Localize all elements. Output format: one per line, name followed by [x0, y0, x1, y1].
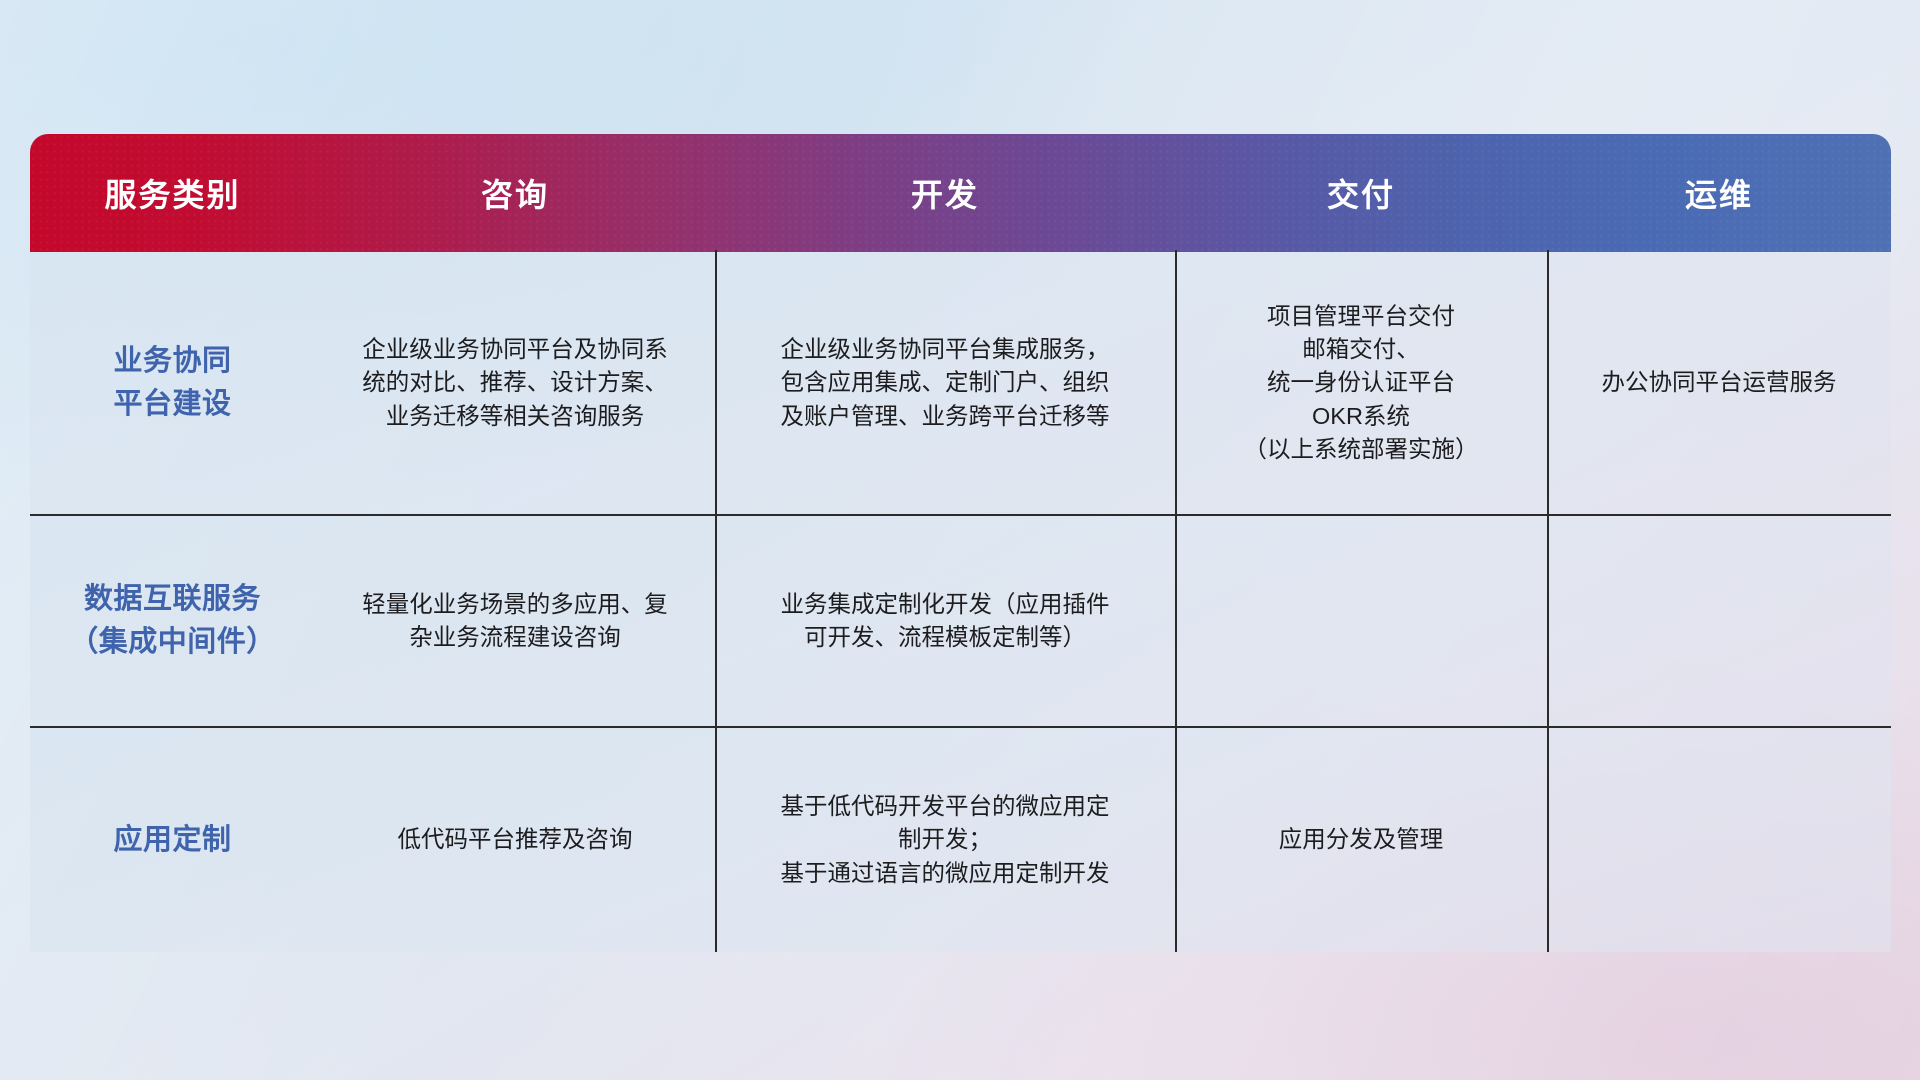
cell-text: 办公协同平台运营服务 — [1602, 366, 1837, 399]
table-row: 业务协同 平台建设 企业级业务协同平台及协同系 统的对比、推荐、设计方案、 业务… — [30, 252, 1891, 514]
row-label-text: 应用定制 — [113, 819, 231, 862]
cell-development: 企业级业务协同平台集成服务， 包含应用集成、定制门户、组织 及账户管理、业务跨平… — [715, 252, 1175, 514]
row-label-cell: 业务协同 平台建设 — [30, 252, 315, 514]
cell-development: 基于低代码开发平台的微应用定 制开发； 基于通过语言的微应用定制开发 — [715, 728, 1175, 952]
cell-development: 业务集成定制化开发（应用插件 可开发、流程模板定制等） — [715, 516, 1175, 726]
cell-operations — [1547, 728, 1891, 952]
column-header-delivery: 交付 — [1175, 170, 1547, 216]
cell-text: 基于低代码开发平台的微应用定 制开发； 基于通过语言的微应用定制开发 — [781, 790, 1110, 890]
cell-delivery — [1175, 516, 1547, 726]
cell-text: 企业级业务协同平台集成服务， 包含应用集成、定制门户、组织 及账户管理、业务跨平… — [781, 333, 1110, 433]
cell-text: 低代码平台推荐及咨询 — [398, 823, 633, 856]
table-body: 业务协同 平台建设 企业级业务协同平台及协同系 统的对比、推荐、设计方案、 业务… — [30, 252, 1891, 952]
table-row: 应用定制 低代码平台推荐及咨询 基于低代码开发平台的微应用定 制开发； 基于通过… — [30, 726, 1891, 952]
cell-text: 业务集成定制化开发（应用插件 可开发、流程模板定制等） — [781, 588, 1110, 655]
row-label-text: 数据互联服务 （集成中间件） — [69, 578, 276, 664]
row-label-cell: 数据互联服务 （集成中间件） — [30, 516, 315, 726]
cell-text: 轻量化业务场景的多应用、复 杂业务流程建设咨询 — [362, 588, 668, 655]
cell-consulting: 轻量化业务场景的多应用、复 杂业务流程建设咨询 — [315, 516, 715, 726]
row-label-cell: 应用定制 — [30, 728, 315, 952]
row-label-text: 业务协同 平台建设 — [113, 340, 231, 426]
cell-consulting: 企业级业务协同平台及协同系 统的对比、推荐、设计方案、 业务迁移等相关咨询服务 — [315, 252, 715, 514]
cell-operations — [1547, 516, 1891, 726]
service-matrix-table: 服务类别 咨询 开发 交付 运维 业务协同 平台建设 企业级业务协同平台及协同系… — [30, 134, 1891, 952]
column-header-service-category: 服务类别 — [30, 170, 315, 216]
column-header-operations: 运维 — [1547, 170, 1891, 216]
column-header-consulting: 咨询 — [315, 170, 715, 216]
table-header-row: 服务类别 咨询 开发 交付 运维 — [30, 134, 1891, 252]
cell-text: 项目管理平台交付 邮箱交付、 统一身份认证平台 OKR系统 （以上系统部署实施） — [1244, 300, 1479, 467]
table-row: 数据互联服务 （集成中间件） 轻量化业务场景的多应用、复 杂业务流程建设咨询 业… — [30, 514, 1891, 726]
cell-text: 应用分发及管理 — [1279, 823, 1444, 856]
column-header-development: 开发 — [715, 170, 1175, 216]
cell-delivery: 应用分发及管理 — [1175, 728, 1547, 952]
cell-operations: 办公协同平台运营服务 — [1547, 252, 1891, 514]
cell-text: 企业级业务协同平台及协同系 统的对比、推荐、设计方案、 业务迁移等相关咨询服务 — [362, 333, 668, 433]
cell-delivery: 项目管理平台交付 邮箱交付、 统一身份认证平台 OKR系统 （以上系统部署实施） — [1175, 252, 1547, 514]
cell-consulting: 低代码平台推荐及咨询 — [315, 728, 715, 952]
